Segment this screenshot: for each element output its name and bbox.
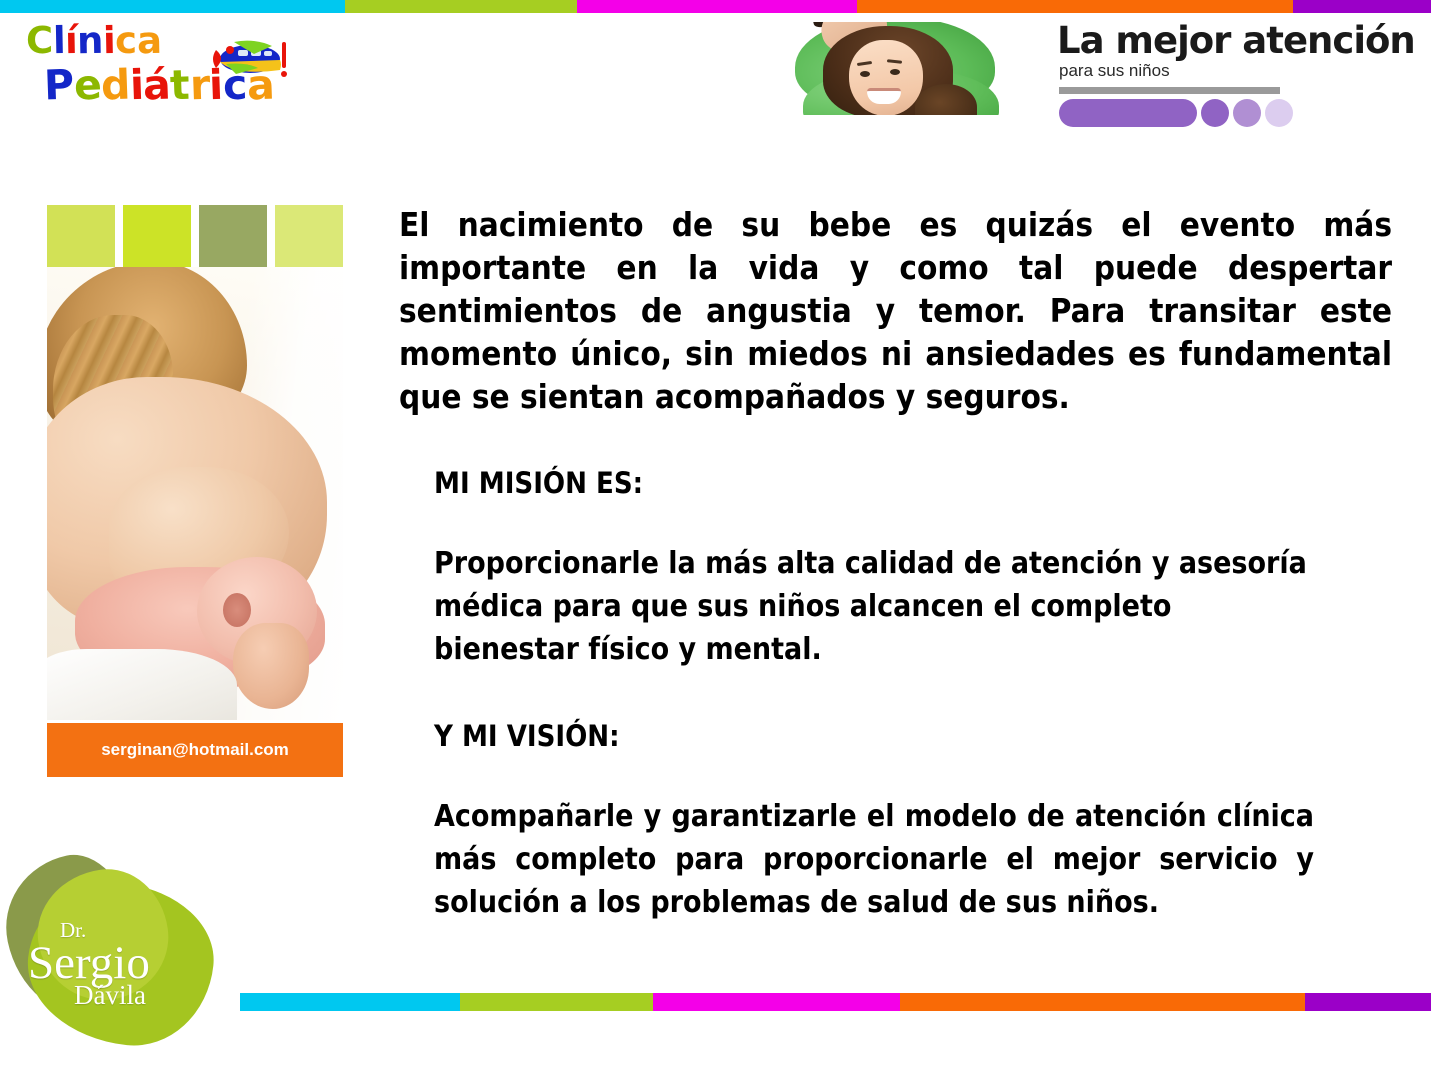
rule-segment-magenta [577,0,857,13]
green-swatch-strip [47,205,343,267]
rule-segment-cyan [0,0,345,13]
clinica-pediatrica-logo: Clínica Pediátrica [18,22,288,127]
brand-letter: t [170,65,191,107]
tagline-subline: para sus niños [1057,62,1427,79]
lead-paragraph: El nacimiento de su bebe es quizás el ev… [399,203,1392,418]
photo-eye-right [890,69,900,75]
brand-letter: a [136,22,161,59]
top-color-rule [0,0,1431,13]
brand-letter: C [26,22,53,59]
rule-segment-green [345,0,577,13]
rule-segment-magenta [653,993,900,1011]
brand-letter: d [100,65,130,107]
brand-letter: á [143,65,172,107]
brand-letter: c [115,22,137,59]
dr-sergio-davila-logo: Dr. Sergio Dávila [0,848,250,1053]
photo-eye-left [860,71,870,77]
tagline-purple-row [1059,99,1427,127]
email-address[interactable]: serginan@hotmail.com [101,740,289,760]
tagline-dot-3 [1265,99,1293,127]
swatch-2 [123,205,191,267]
vision-heading: Y MI VISIÓN: [434,717,1314,755]
rule-segment-cyan [240,993,460,1011]
swatch-4 [275,205,343,267]
photo-baby-ear [223,593,251,627]
brand-letter: i [103,22,116,59]
tagline-dot-2 [1233,99,1261,127]
tagline-block: La mejor atención para sus niños [1057,22,1427,127]
rule-segment-orange [857,0,1293,13]
main-copy: El nacimiento de su bebe es quizás el ev… [399,203,1392,924]
vision-text: Acompañarle y garantizarle el modelo de … [434,795,1314,924]
brand-letter: P [43,64,74,106]
tagline-dot-1 [1201,99,1229,127]
photo-white-blanket [47,649,237,720]
photo-smile [867,88,901,104]
airplane-icon [196,36,288,88]
tagline-gray-bar [1059,87,1280,94]
brand-letter: l [52,22,65,59]
photo-mother-hand [233,623,309,709]
rule-segment-purple [1293,0,1431,13]
rule-segment-purple [1305,993,1431,1011]
rule-segment-orange [900,993,1305,1011]
swatch-1 [47,205,115,267]
tagline-purple-bar [1059,99,1197,127]
logo-name-group: Dr. Sergio Dávila [26,920,216,1009]
swatch-3 [199,205,267,267]
brand-letter: í [65,22,78,59]
tagline-headline: La mejor atención [1057,22,1427,59]
mission-heading: MI MISIÓN ES: [434,464,1314,502]
brand-letter: e [73,65,102,107]
mission-vision-block: MI MISIÓN ES: Proporcionarle la más alta… [434,464,1314,924]
slide-canvas: Clínica Pediátrica [0,0,1431,1069]
header-family-photo [765,22,1035,115]
logo-first-name: Sergio [26,941,216,986]
mission-text: Proporcionarle la más alta calidad de at… [434,542,1314,671]
email-bar[interactable]: serginan@hotmail.com [47,723,343,777]
breastfeeding-photo [47,267,343,720]
rule-segment-green [460,993,653,1011]
brand-letter: n [77,22,103,59]
bottom-color-rule [240,993,1431,1011]
